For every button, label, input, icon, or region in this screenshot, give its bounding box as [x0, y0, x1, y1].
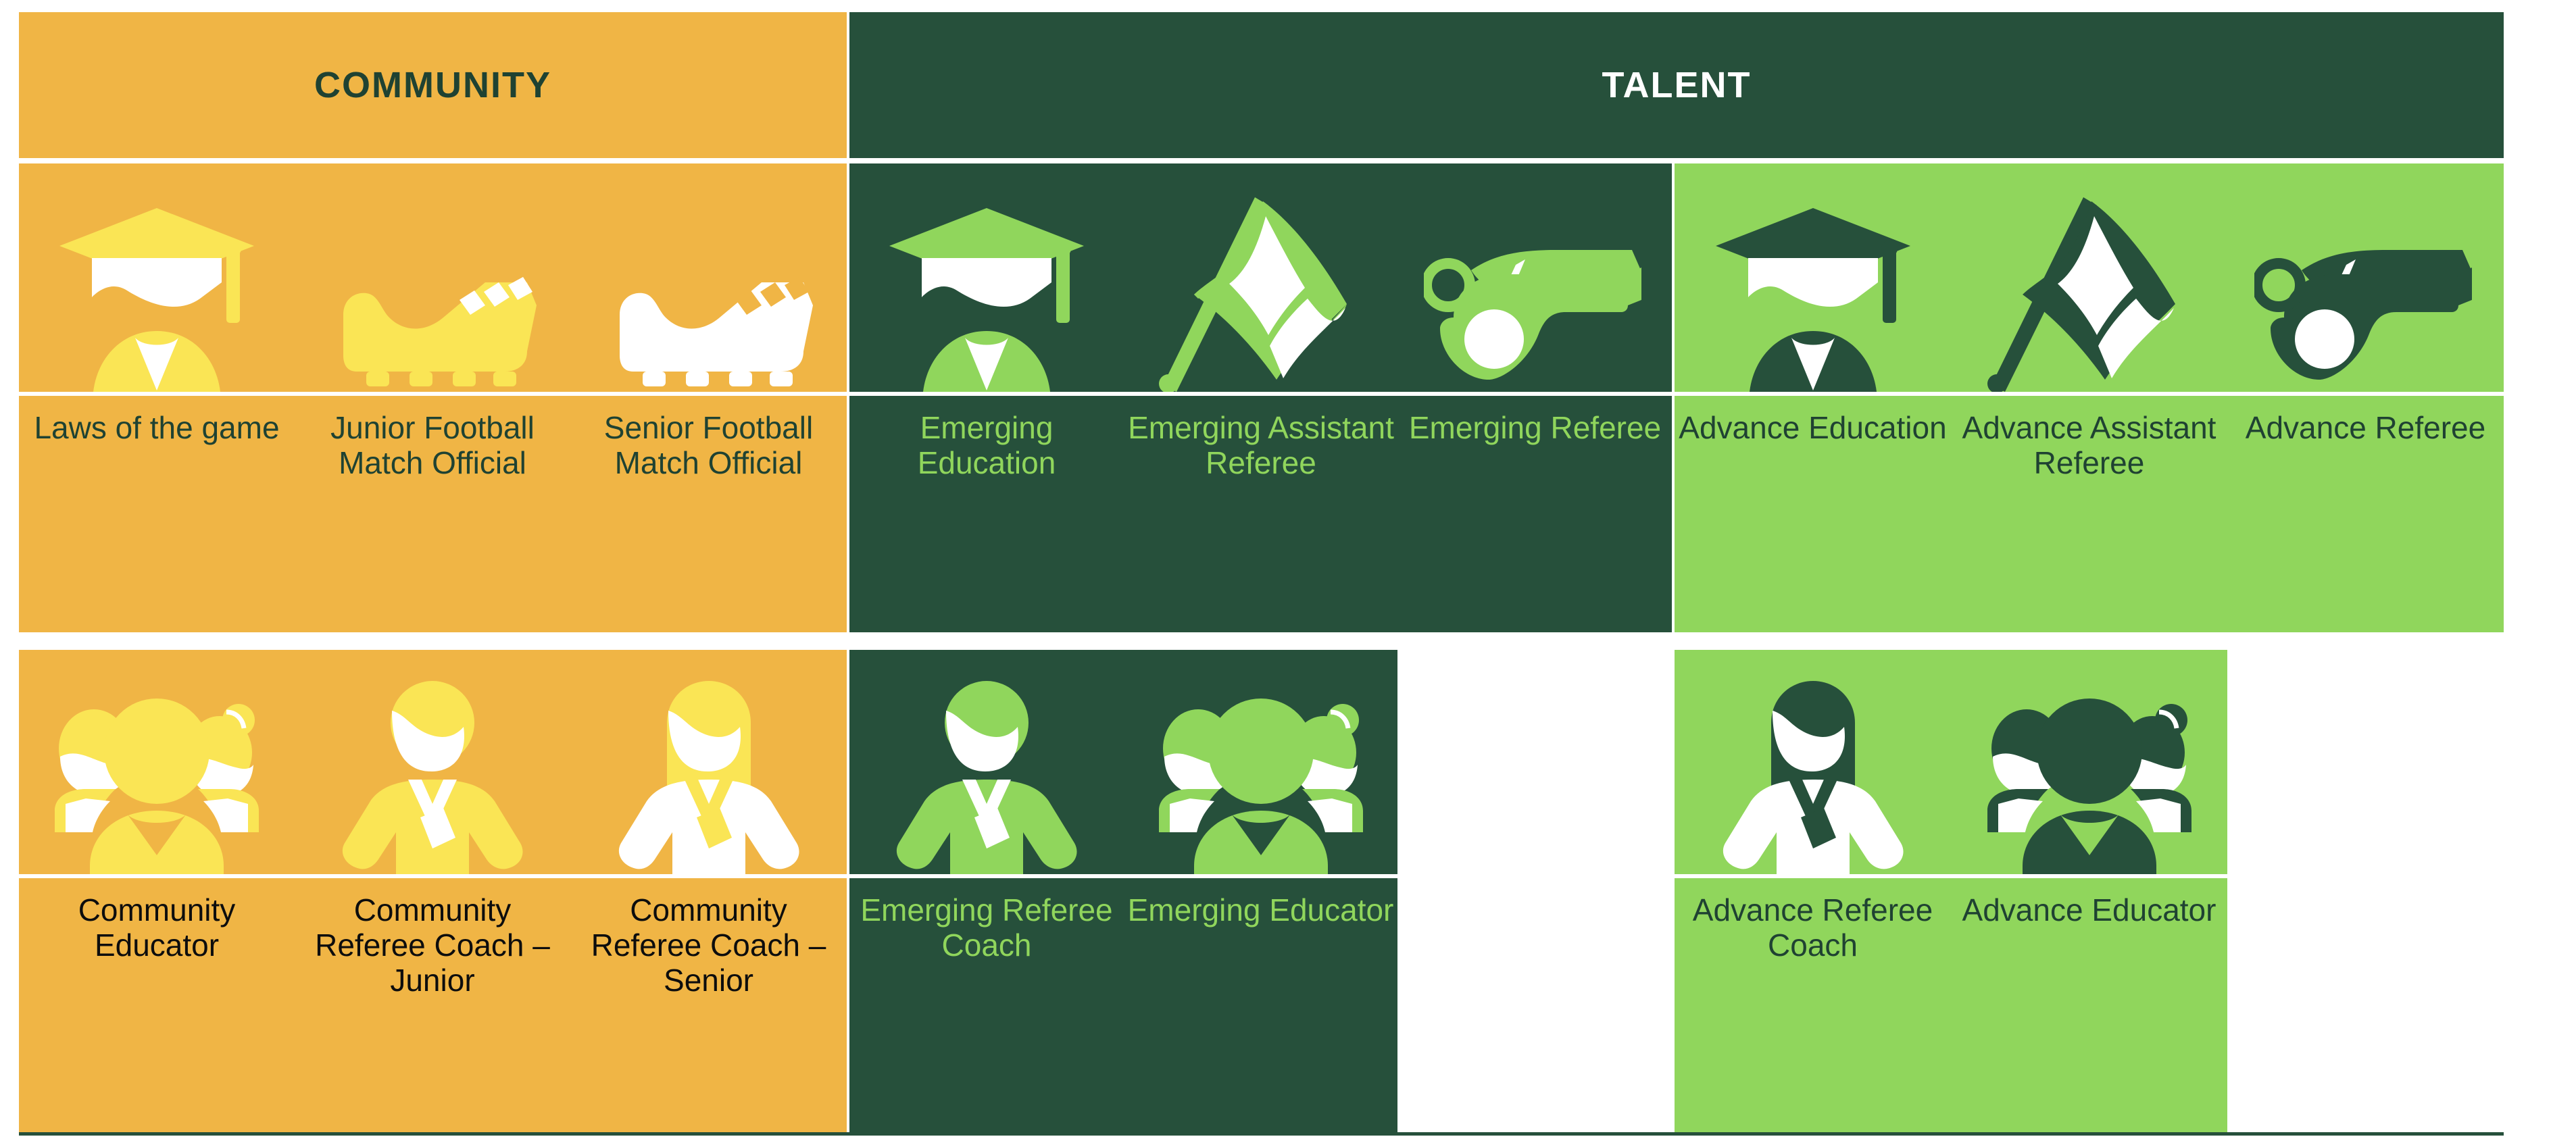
cell-label: Community Referee Coach – Senior [570, 893, 847, 998]
cell-label: Laws of the game [34, 411, 279, 446]
label-emerging-referee-coach: Emerging Referee Coach [849, 878, 1124, 1132]
cell-label: Emerging Referee Coach [849, 893, 1124, 963]
assistant-referee-flag-icon [1156, 189, 1366, 392]
row2-emerging-empty-label-cell [1397, 878, 1672, 1132]
row2-emerging-empty-cell [1397, 650, 1672, 874]
row1-community-labels: Laws of the game Junior Football Match O… [19, 396, 847, 632]
label-laws-of-the-game: Laws of the game [19, 396, 295, 632]
cell-emerging-assistant-referee-icon[interactable] [1124, 163, 1398, 392]
cell-label: Community Referee Coach – Junior [295, 893, 570, 998]
row2-emerging-labels: Emerging Referee Coach Emerging Educator [849, 878, 1397, 1132]
label-advance-assistant-referee: Advance Assistant Referee [1951, 396, 2227, 632]
row2-emerging-icons [849, 650, 1397, 874]
cell-label: Emerging Educator [1128, 893, 1394, 928]
cell-label: Community Educator [19, 893, 295, 963]
pathway-matrix: COMMUNITY TALENT [0, 0, 2576, 1143]
cell-advance-referee-coach-icon[interactable] [1675, 650, 1951, 874]
coach-lanyard-female-icon [608, 671, 810, 874]
cell-label: Advance Referee [2246, 411, 2485, 446]
label-advance-referee-coach: Advance Referee Coach [1675, 878, 1951, 1132]
label-emerging-education: Emerging Education [849, 396, 1124, 632]
cell-label: Junior Football Match Official [295, 411, 570, 481]
row2-advance-icons [1675, 650, 2227, 874]
row1-emerging-labels: Emerging Education Emerging Assistant Re… [849, 396, 1672, 632]
whistle-icon [1424, 230, 1647, 392]
row1-community-icons [19, 163, 847, 392]
whistle-icon [2254, 230, 2477, 392]
row2-community-labels: Community Educator Community Referee Coa… [19, 878, 847, 1132]
cell-emerging-educator-icon[interactable] [1124, 650, 1397, 874]
cell-label: Advance Referee Coach [1675, 893, 1951, 963]
people-group-icon [1149, 678, 1372, 874]
cell-community-referee-coach-junior-icon[interactable] [295, 650, 570, 874]
football-boot-icon [324, 270, 541, 392]
community-header: COMMUNITY [19, 12, 847, 158]
row2-advance-empty-cell [2227, 650, 2504, 874]
talent-header: TALENT [849, 12, 2504, 158]
cell-label: Emerging Assistant Referee [1124, 411, 1398, 481]
label-emerging-referee: Emerging Referee [1398, 396, 1672, 632]
cell-advance-referee-icon[interactable] [2227, 163, 2504, 392]
coach-lanyard-icon [885, 671, 1088, 874]
graduation-cap-person-icon [885, 196, 1088, 392]
talent-header-label: TALENT [1602, 64, 1752, 106]
assistant-referee-flag-icon [1985, 189, 2194, 392]
label-junior-football-match-official: Junior Football Match Official [295, 396, 570, 632]
cell-advance-education-icon[interactable] [1675, 163, 1951, 392]
cell-label: Emerging Education [849, 411, 1124, 481]
football-boot-icon [601, 270, 817, 392]
bottom-divider [19, 1132, 2504, 1136]
label-emerging-educator: Emerging Educator [1124, 878, 1397, 1132]
label-community-referee-coach-senior: Community Referee Coach – Senior [570, 878, 847, 1132]
label-advance-education: Advance Education [1675, 396, 1951, 632]
graduation-cap-person-icon [1712, 196, 1914, 392]
row1-advance-icons [1675, 163, 2504, 392]
cell-label: Emerging Referee [1409, 411, 1661, 446]
label-advance-referee: Advance Referee [2227, 396, 2504, 632]
cell-advance-educator-icon[interactable] [1951, 650, 2227, 874]
cell-laws-of-the-game-icon[interactable] [19, 163, 295, 392]
cell-emerging-education-icon[interactable] [849, 163, 1124, 392]
cell-emerging-referee-icon[interactable] [1398, 163, 1672, 392]
cell-senior-football-match-official-icon[interactable] [570, 163, 847, 392]
cell-label: Advance Educator [1962, 893, 2216, 928]
row2-community-icons [19, 650, 847, 874]
people-group-icon [45, 678, 268, 874]
cell-community-referee-coach-senior-icon[interactable] [570, 650, 847, 874]
row2-advance-labels: Advance Referee Coach Advance Educator [1675, 878, 2227, 1132]
cell-advance-assistant-referee-icon[interactable] [1951, 163, 2227, 392]
label-community-educator: Community Educator [19, 878, 295, 1132]
graduation-cap-person-icon [55, 196, 258, 392]
row2-advance-empty-label-cell [2227, 878, 2504, 1132]
label-senior-football-match-official: Senior Football Match Official [570, 396, 847, 632]
cell-community-educator-icon[interactable] [19, 650, 295, 874]
row1-emerging-icons [849, 163, 1672, 392]
coach-lanyard-icon [331, 671, 534, 874]
label-advance-educator: Advance Educator [1951, 878, 2227, 1132]
coach-lanyard-female-icon [1712, 671, 1914, 874]
row1-advance-labels: Advance Education Advance Assistant Refe… [1675, 396, 2504, 632]
label-community-referee-coach-junior: Community Referee Coach – Junior [295, 878, 570, 1132]
cell-label: Advance Assistant Referee [1951, 411, 2227, 481]
cell-emerging-referee-coach-icon[interactable] [849, 650, 1124, 874]
cell-label: Advance Education [1679, 411, 1946, 446]
people-group-icon [1978, 678, 2201, 874]
cell-junior-football-match-official-icon[interactable] [295, 163, 570, 392]
community-header-label: COMMUNITY [314, 64, 551, 106]
cell-label: Senior Football Match Official [570, 411, 847, 481]
label-emerging-assistant-referee: Emerging Assistant Referee [1124, 396, 1398, 632]
